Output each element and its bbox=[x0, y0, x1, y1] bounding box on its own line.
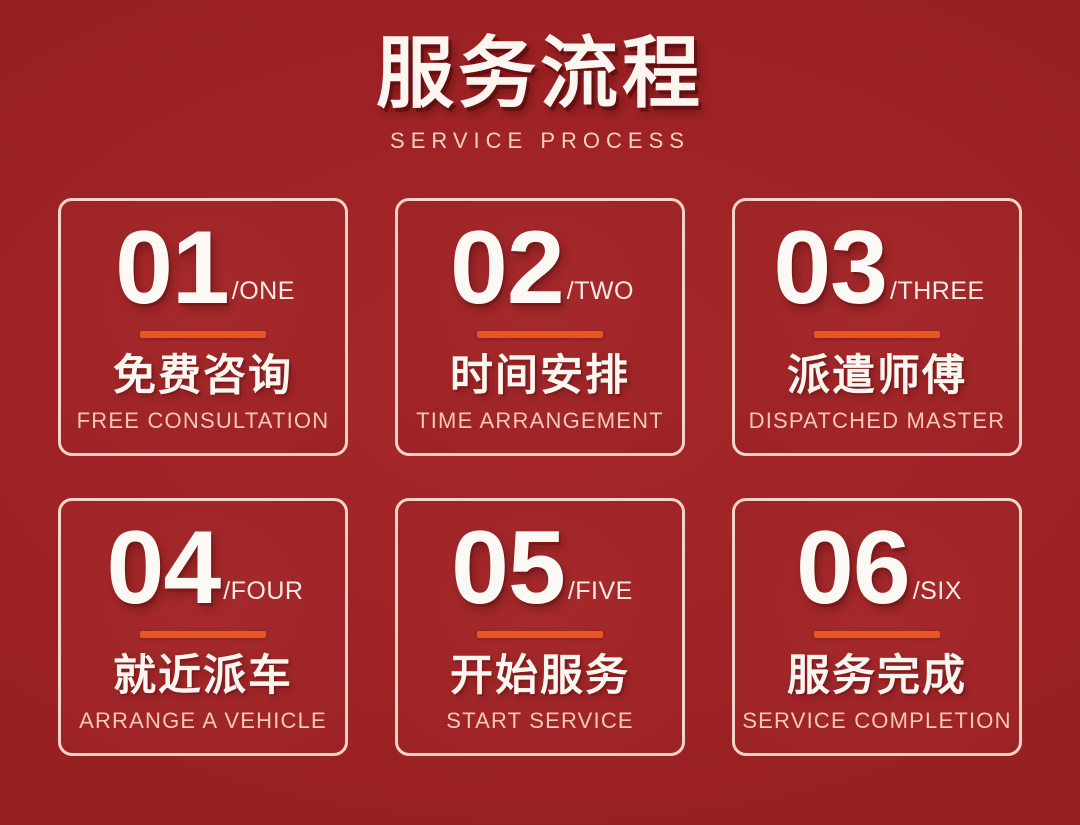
step-number-row: 06 /SIX bbox=[735, 515, 1019, 621]
step-number-row: 04 /FOUR bbox=[61, 515, 345, 621]
service-process-poster: 服务流程 SERVICE PROCESS 01 /ONE 免费咨询 FREE C… bbox=[0, 0, 1080, 825]
step-label-en: ARRANGE A VEHICLE bbox=[79, 708, 327, 734]
step-card-02[interactable]: 02 /TWO 时间安排 TIME ARRANGEMENT bbox=[395, 198, 685, 456]
step-number-suffix: /FOUR bbox=[223, 577, 303, 606]
divider-line bbox=[477, 631, 603, 638]
step-number: 04 bbox=[107, 515, 221, 621]
step-number-suffix: /THREE bbox=[890, 277, 985, 306]
step-label-en: TIME ARRANGEMENT bbox=[416, 408, 664, 434]
page-subtitle: SERVICE PROCESS bbox=[0, 128, 1080, 154]
step-card-06[interactable]: 06 /SIX 服务完成 SERVICE COMPLETION bbox=[732, 498, 1022, 756]
step-number-suffix: /ONE bbox=[232, 277, 295, 306]
step-label-cn: 就近派车 bbox=[113, 654, 293, 699]
step-number: 02 bbox=[450, 215, 564, 321]
step-number-row: 03 /THREE bbox=[735, 215, 1019, 321]
divider-line bbox=[140, 331, 266, 338]
step-number: 01 bbox=[115, 215, 229, 321]
step-number: 03 bbox=[773, 215, 887, 321]
step-number: 05 bbox=[451, 515, 565, 621]
step-label-cn: 时间安排 bbox=[450, 354, 630, 399]
step-number-suffix: /TWO bbox=[567, 277, 634, 306]
step-label-cn: 服务完成 bbox=[787, 654, 967, 699]
divider-line bbox=[814, 331, 940, 338]
step-card-01[interactable]: 01 /ONE 免费咨询 FREE CONSULTATION bbox=[58, 198, 348, 456]
step-label-en: SERVICE COMPLETION bbox=[742, 708, 1011, 734]
step-label-cn: 开始服务 bbox=[450, 654, 630, 699]
step-card-04[interactable]: 04 /FOUR 就近派车 ARRANGE A VEHICLE bbox=[58, 498, 348, 756]
step-number-suffix: /SIX bbox=[913, 577, 962, 606]
step-number-row: 02 /TWO bbox=[398, 215, 682, 321]
step-number: 06 bbox=[796, 515, 910, 621]
step-number-suffix: /FIVE bbox=[568, 577, 633, 606]
step-card-03[interactable]: 03 /THREE 派遣师傅 DISPATCHED MASTER bbox=[732, 198, 1022, 456]
page-title: 服务流程 bbox=[0, 34, 1080, 112]
step-label-en: START SERVICE bbox=[446, 708, 634, 734]
divider-line bbox=[477, 331, 603, 338]
step-card-05[interactable]: 05 /FIVE 开始服务 START SERVICE bbox=[395, 498, 685, 756]
step-label-en: DISPATCHED MASTER bbox=[749, 408, 1006, 434]
step-label-cn: 免费咨询 bbox=[113, 354, 293, 399]
steps-grid: 01 /ONE 免费咨询 FREE CONSULTATION 02 /TWO 时… bbox=[58, 198, 1022, 756]
step-number-row: 01 /ONE bbox=[61, 215, 345, 321]
step-label-cn: 派遣师傅 bbox=[787, 354, 967, 399]
divider-line bbox=[814, 631, 940, 638]
poster-header: 服务流程 SERVICE PROCESS bbox=[0, 0, 1080, 154]
step-label-en: FREE CONSULTATION bbox=[77, 408, 330, 434]
step-number-row: 05 /FIVE bbox=[398, 515, 682, 621]
divider-line bbox=[140, 631, 266, 638]
